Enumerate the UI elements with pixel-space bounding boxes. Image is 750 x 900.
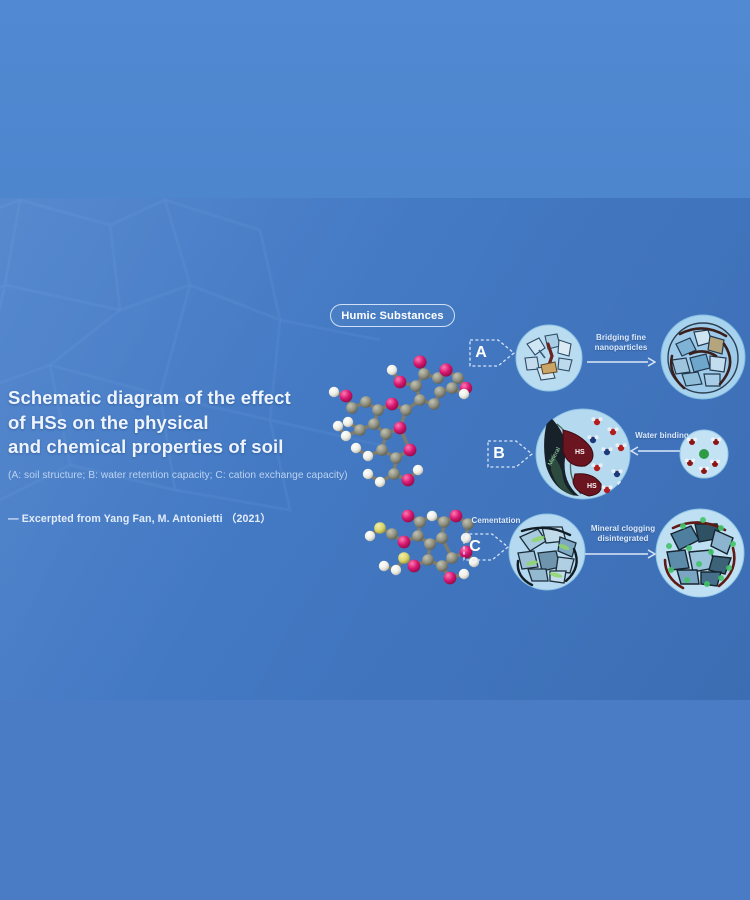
panel-soil-aggregate-bridged — [660, 314, 746, 400]
branch-badge-a: A — [468, 335, 520, 371]
panel-hydrated-cation — [679, 429, 729, 479]
page-title-line-3: and chemical properties of soil — [8, 435, 348, 460]
branch-badge-c-label: C — [464, 532, 486, 561]
page-title-line-1: Schematic diagram of the effect — [8, 386, 348, 411]
svg-text:HS: HS — [575, 449, 585, 456]
branch-badge-b: B — [486, 436, 538, 472]
panel-soil-aggregate-loose — [515, 324, 583, 392]
arrow-right-mineral-clogging — [584, 548, 656, 560]
annotation-mineral-clogging-disintegrated: Mineral clogging disintegrated — [580, 524, 666, 544]
panel-humic-substance-water-film: HS HS Mineral — [535, 408, 631, 500]
headline-text-block: Schematic diagram of the effect of HSs o… — [8, 386, 348, 526]
branch-badge-b-label: B — [488, 439, 510, 468]
background-band-top — [0, 0, 750, 198]
branch-badge-c: C — [462, 529, 514, 565]
annotation-line: nanoparticles — [583, 343, 659, 353]
svg-text:HS: HS — [587, 483, 597, 490]
source-attribution: — Excerpted from Yang Fan, M. Antonietti… — [8, 511, 348, 526]
arrow-right-bridging — [586, 356, 656, 368]
page-subtitle: (A: soil structure; B: water retention c… — [8, 469, 348, 483]
humic-substances-label-chip: Humic Substances — [330, 304, 455, 327]
panel-mineral-clogged-aggregate — [508, 513, 586, 591]
branch-badge-a-label: A — [470, 338, 492, 367]
panel-disintegrated-aggregate — [655, 508, 745, 598]
annotation-line: disintegrated — [580, 534, 666, 544]
annotation-line: Bridging fine — [583, 333, 659, 343]
annotation-line: Mineral clogging — [580, 524, 666, 534]
slide-canvas: Schematic diagram of the effect of HSs o… — [0, 0, 750, 900]
page-title-line-2: of HSs on the physical — [8, 411, 348, 436]
annotation-bridging-fine-nanoparticles: Bridging fine nanoparticles — [583, 333, 659, 353]
background-band-bottom — [0, 700, 750, 900]
